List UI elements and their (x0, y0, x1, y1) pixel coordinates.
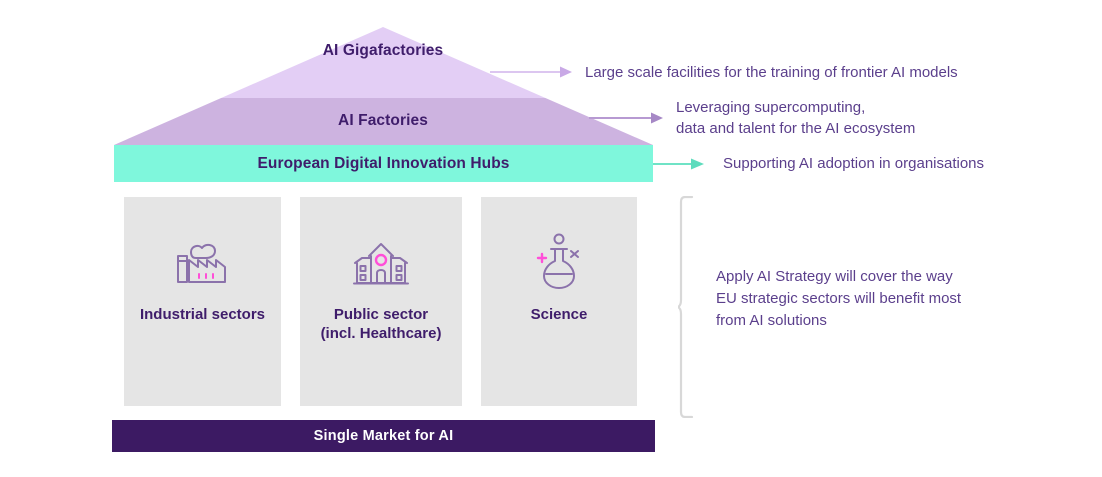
factory-icon (124, 225, 281, 299)
sector-card-public[interactable]: Public sector (incl. Healthcare) (300, 197, 462, 406)
arrow-gigafactories (490, 67, 572, 78)
tier-label-edih: European Digital Innovation Hubs (257, 155, 509, 173)
arrow-factories (589, 113, 663, 124)
callout-text-factories: Leveraging supercomputing, data and tale… (676, 97, 1096, 140)
pyramid-band-gigafactories (221, 27, 545, 98)
sector-label-public: Public sector (incl. Healthcare) (300, 305, 462, 343)
flask-icon (481, 225, 637, 299)
callout-text-edih: Supporting AI adoption in organisations (723, 153, 1102, 174)
diagram-canvas: AI Gigafactories AI Factories European D… (0, 0, 1102, 477)
sector-label-science: Science (481, 305, 637, 324)
single-market-label: Single Market for AI (314, 428, 454, 444)
sector-card-science[interactable]: Science (481, 197, 637, 406)
tier-label-ai-gigafactories: AI Gigafactories (243, 42, 523, 60)
sector-label-industrial: Industrial sectors (124, 305, 281, 324)
tier-label-ai-factories: AI Factories (243, 112, 523, 130)
apply-ai-strategy-note: Apply AI Strategy will cover the way EU … (716, 266, 1056, 331)
single-market-bar: Single Market for AI (112, 420, 655, 452)
tier-edih-bar: European Digital Innovation Hubs (114, 145, 653, 182)
curly-brace (678, 196, 702, 418)
arrow-edih (653, 159, 704, 170)
callout-text-gigafactories: Large scale facilities for the training … (585, 62, 1085, 83)
public-building-icon (300, 225, 462, 299)
sector-card-industrial[interactable]: Industrial sectors (124, 197, 281, 406)
